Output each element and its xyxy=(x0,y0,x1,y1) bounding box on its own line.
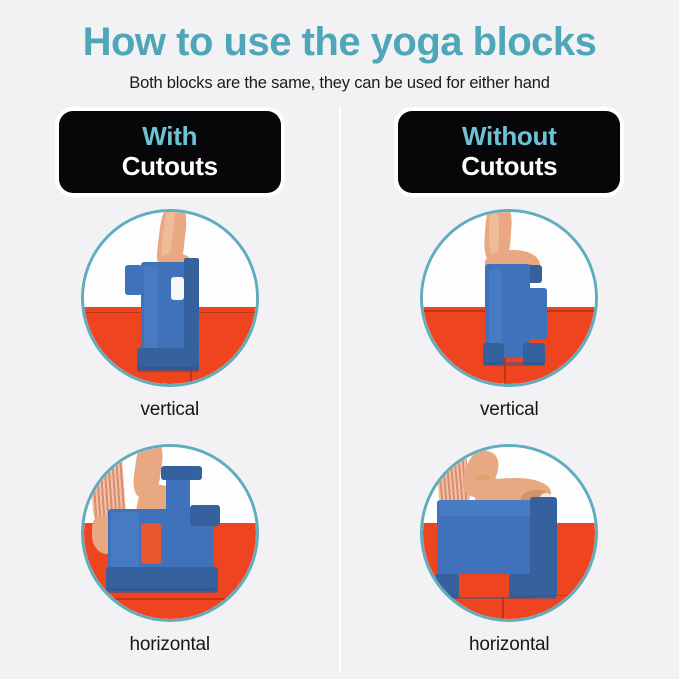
column-with-cutouts: With Cutouts xyxy=(0,106,340,656)
header: How to use the yoga blocks Both blocks a… xyxy=(0,0,679,93)
photo-mat-seam xyxy=(84,598,256,600)
block-cutout-gap xyxy=(141,523,162,564)
block-shadow-edge xyxy=(137,367,199,372)
figure-caption: vertical xyxy=(140,399,199,421)
photo-scene xyxy=(423,212,595,384)
columns-container: With Cutouts xyxy=(0,106,679,656)
block-shadow-edge xyxy=(483,362,545,366)
block-under-notch xyxy=(459,574,509,596)
chip-line-primary: Without xyxy=(462,122,556,152)
block-body-highlight xyxy=(144,265,158,354)
figure-without-cutouts-horizontal: horizontal xyxy=(420,444,598,656)
bracelet xyxy=(475,475,490,480)
block-upright-top xyxy=(161,466,202,480)
photo-scene xyxy=(84,447,256,619)
photo-circle-with-cutouts-vertical xyxy=(81,209,259,387)
photo-circle-without-cutouts-horizontal xyxy=(420,444,598,622)
photo-scene xyxy=(84,212,256,384)
photo-scene xyxy=(423,447,595,619)
block-top-face xyxy=(439,500,535,515)
column-without-cutouts: Without Cutouts xyxy=(340,106,679,656)
figure-with-cutouts-horizontal: horizontal xyxy=(81,444,259,656)
figure-without-cutouts-vertical: vertical xyxy=(420,209,598,421)
block-cutout-tab xyxy=(190,505,219,526)
label-chip-with-cutouts: With Cutouts xyxy=(59,111,281,193)
block-shadow-edge xyxy=(106,588,218,593)
chip-line-secondary: Cutouts xyxy=(122,152,218,182)
block-side-wing xyxy=(523,288,547,340)
figure-caption: vertical xyxy=(480,399,539,421)
label-chip-without-cutouts: Without Cutouts xyxy=(398,111,620,193)
page-title: How to use the yoga blocks xyxy=(0,20,679,64)
forearm-highlight xyxy=(489,212,499,257)
photo-circle-with-cutouts-horizontal xyxy=(81,444,259,622)
block-cutout-tab xyxy=(125,265,142,294)
figure-with-cutouts-vertical: vertical xyxy=(81,209,259,421)
figure-caption: horizontal xyxy=(130,634,210,656)
infographic-page: How to use the yoga blocks Both blocks a… xyxy=(0,0,679,679)
chip-line-primary: With xyxy=(142,122,197,152)
block-cutout-gap xyxy=(171,277,183,299)
block-body-highlight xyxy=(489,269,503,345)
chip-line-secondary: Cutouts xyxy=(461,152,557,182)
page-subtitle: Both blocks are the same, they can be us… xyxy=(0,64,679,93)
figure-caption: horizontal xyxy=(469,634,549,656)
photo-circle-without-cutouts-vertical xyxy=(420,209,598,387)
